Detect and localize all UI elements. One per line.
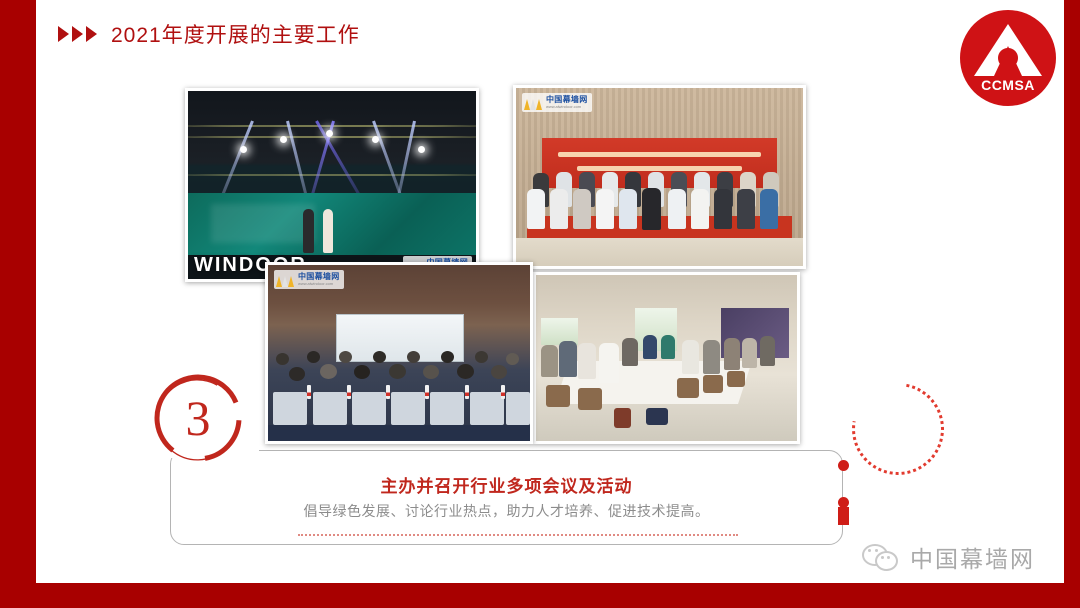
watermark-text: 中国幕墙网 (298, 273, 340, 281)
watermark-text: 中国幕墙网 (546, 96, 588, 104)
ccmsa-logo: CCMSA (960, 10, 1056, 106)
watermark-subtext: www.alwindoor.com (546, 105, 588, 109)
caption-dotted-divider (298, 534, 738, 536)
photo-roundtable-meeting (533, 272, 800, 444)
page-title: 2021年度开展的主要工作 (111, 19, 360, 49)
photo-group-portrait: 中国幕墙网 www.alwindoor.com (513, 85, 806, 269)
step-number: 3 (148, 368, 248, 468)
watermark-subtext: www.alwindoor.com (298, 282, 340, 286)
watermark-logo-icon (276, 272, 295, 287)
triangle-right-icon (86, 26, 97, 42)
photo-conference-audience: 中国幕墙网 www.alwindoor.com (265, 262, 533, 444)
wechat-footer: 中国幕墙网 (862, 540, 1035, 574)
logo-text: CCMSA (960, 77, 1056, 93)
logo-inner-triangle-shape (994, 46, 1022, 76)
frame-bottom-bar (0, 583, 1080, 608)
photo-exhibition-stage: WINDOOR 中国幕墙网 www.alwindoor.com (185, 88, 479, 282)
header-arrow-group (58, 26, 97, 42)
step-number-badge: 3 (148, 368, 248, 468)
frame-left-bar (0, 0, 36, 608)
caption-block: 主办并召开行业多项会议及活动 倡导绿色发展、讨论行业热点，助力人才培养、促进技术… (170, 474, 843, 523)
wechat-icon (862, 543, 902, 571)
decorative-dotted-arc (834, 365, 962, 493)
wechat-label: 中国幕墙网 (910, 540, 1035, 574)
slide-root: 2021年度开展的主要工作 CCMSA (0, 0, 1080, 608)
watermark-alwindoor: 中国幕墙网 www.alwindoor.com (522, 93, 592, 112)
decorative-marker-rect (838, 507, 849, 525)
watermark-alwindoor: 中国幕墙网 www.alwindoor.com (274, 270, 344, 289)
triangle-right-icon (58, 26, 69, 42)
caption-subtitle: 倡导绿色发展、讨论行业热点，助力人才培养、促进技术提高。 (170, 500, 843, 524)
watermark-logo-icon (524, 95, 543, 110)
slide-header: 2021年度开展的主要工作 (36, 16, 360, 52)
caption-title: 主办并召开行业多项会议及活动 (170, 474, 843, 500)
frame-right-bar (1064, 0, 1080, 583)
decorative-dot-corner (838, 460, 849, 471)
triangle-right-icon (72, 26, 83, 42)
